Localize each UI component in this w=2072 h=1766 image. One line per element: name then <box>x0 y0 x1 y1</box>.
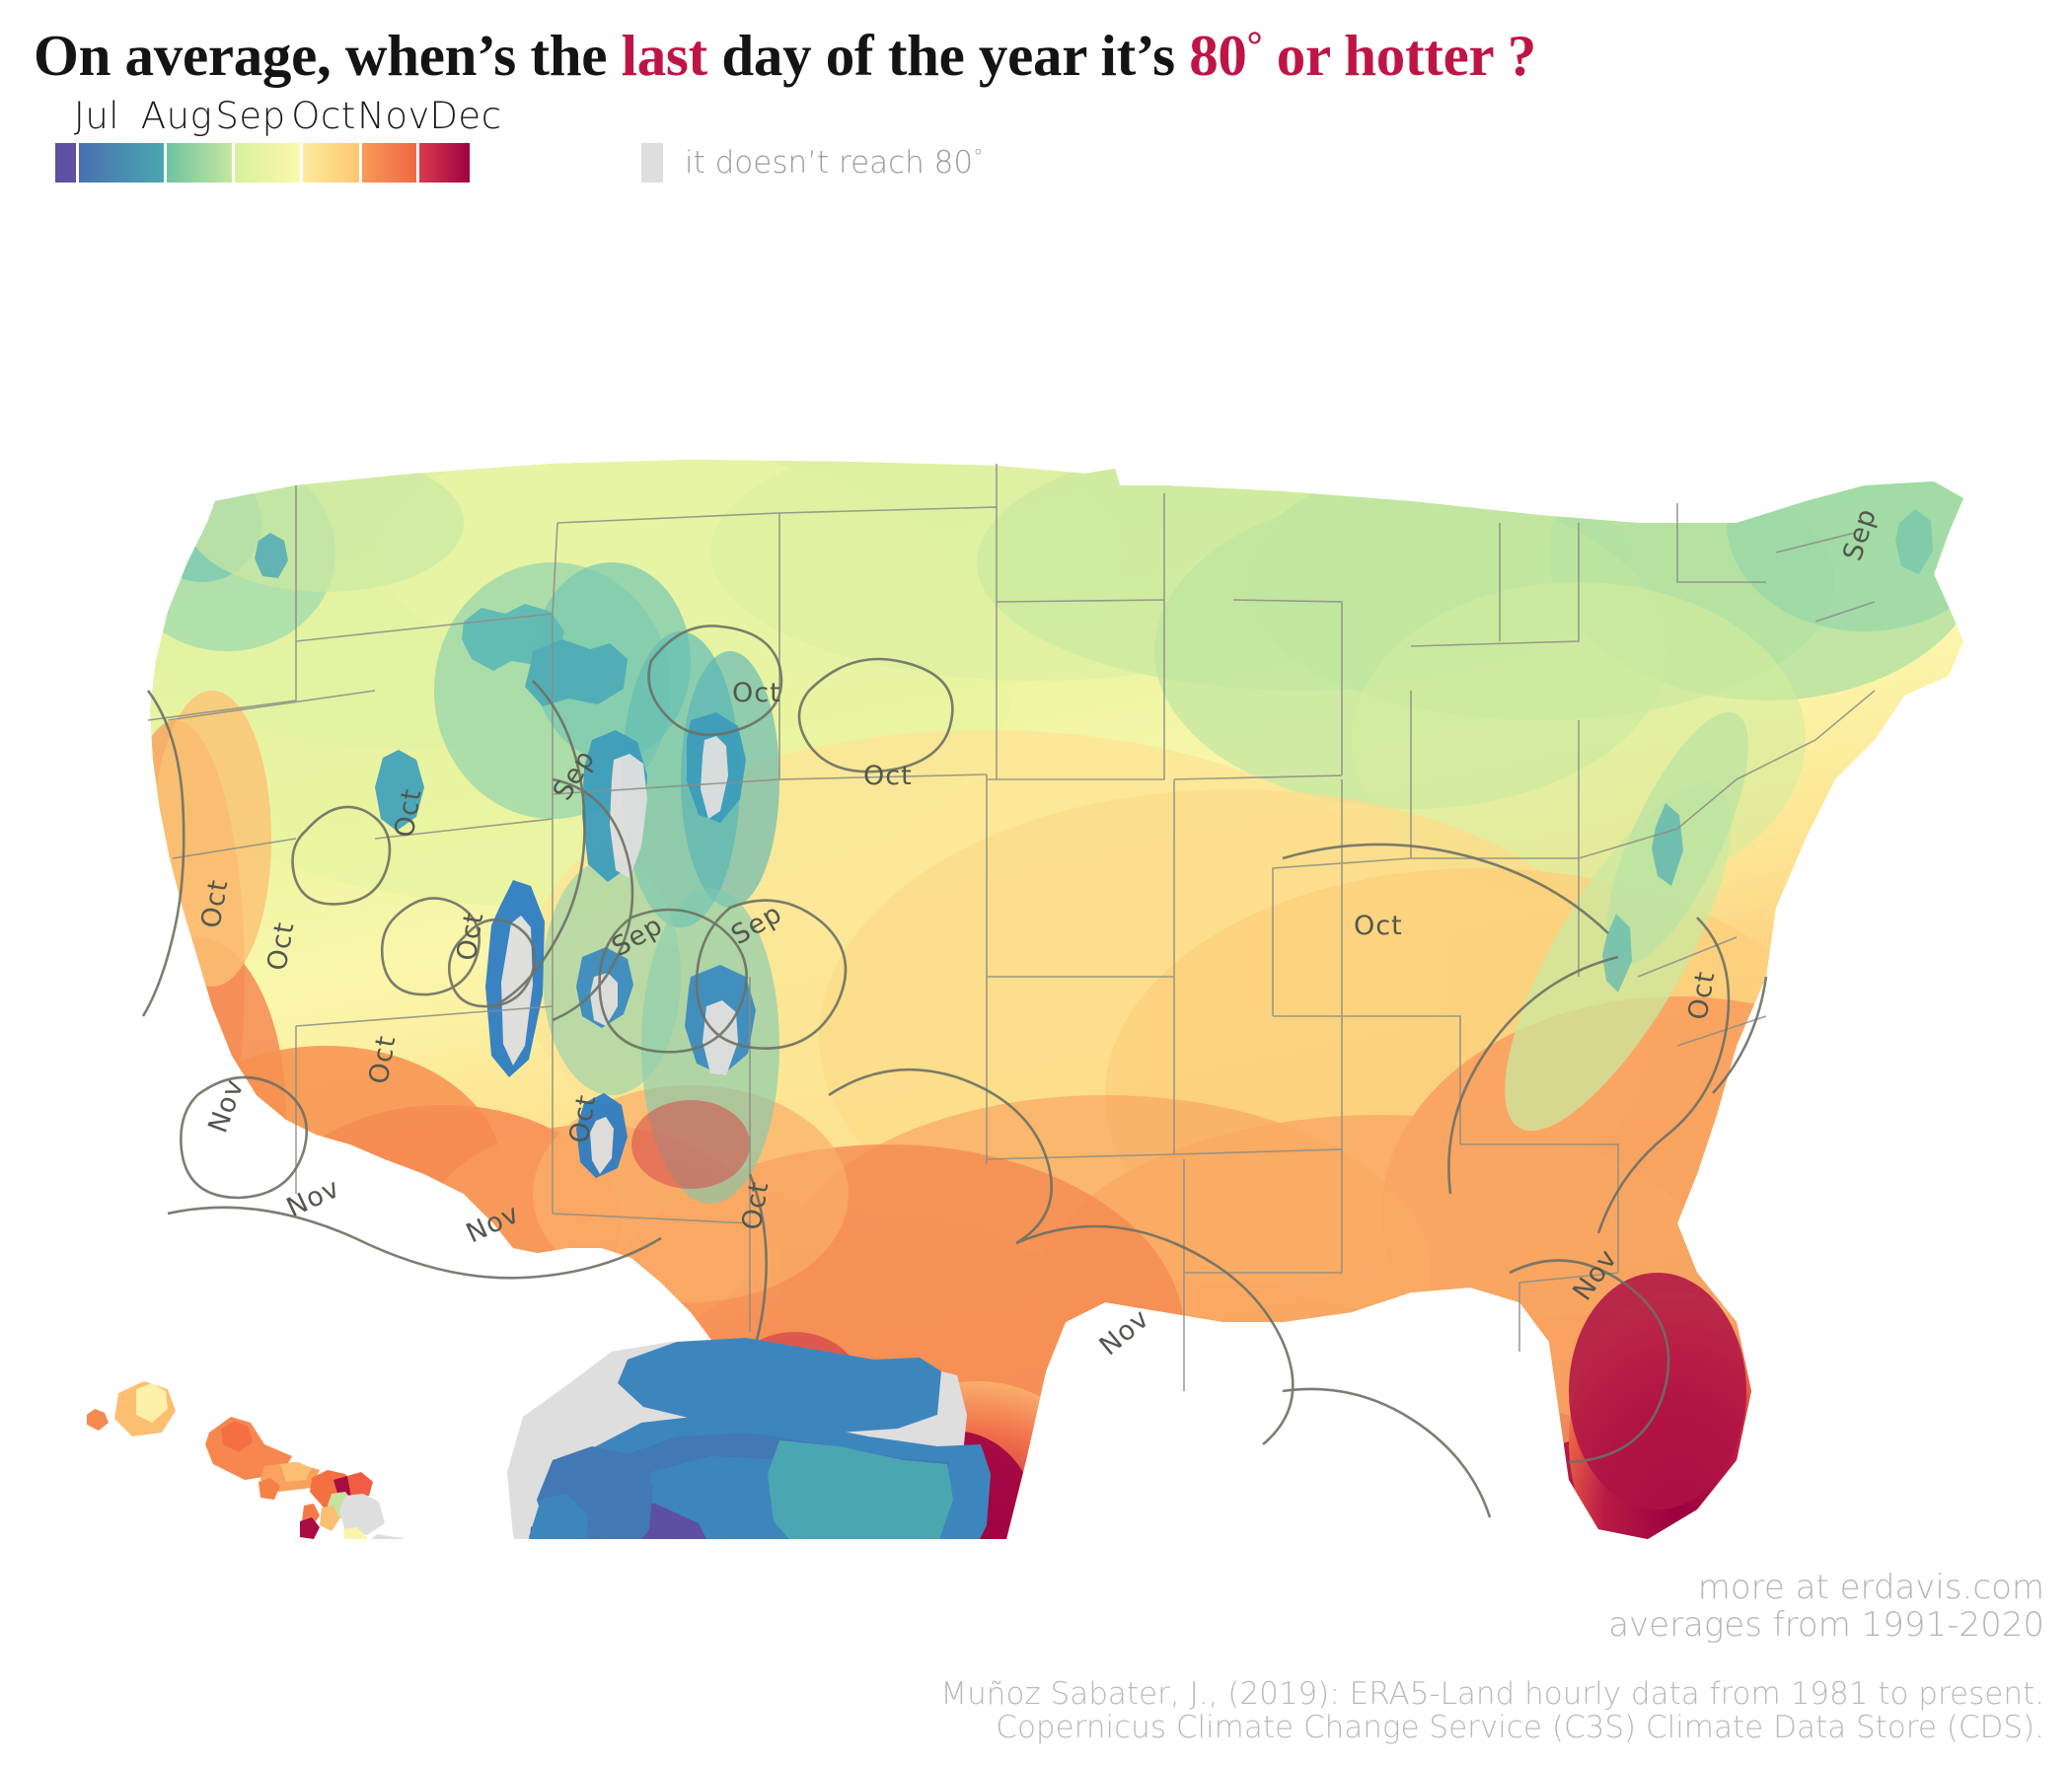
contour-label-oct-4: Oct <box>1354 911 1403 941</box>
title-part-1: On average, when’s the <box>34 23 622 88</box>
legend-segment-nov <box>362 143 415 183</box>
title-accent-last: last <box>622 23 707 88</box>
legend-month-labels: Jul Aug Sep Oct Nov Dec <box>55 95 687 139</box>
page-title: On average, when’s the last day of the y… <box>34 22 2036 90</box>
legend-segment-jun <box>55 143 76 183</box>
title-accent-temperature: 80 <box>1189 23 1246 88</box>
data-citation: Muñoz Sabater, J., (2019): ERA5-Land hou… <box>564 1677 2044 1744</box>
footer-credits: more at erdavis.com averages from 1991-2… <box>663 1569 2044 1644</box>
citation-line-1: Muñoz Sabater, J., (2019): ERA5-Land hou… <box>564 1677 2044 1711</box>
footer-site: more at erdavis.com <box>663 1569 2044 1606</box>
legend-month-jul: Jul <box>67 95 126 137</box>
legend-segment-sep <box>235 143 300 183</box>
legend-month-dec: Dec <box>426 95 505 137</box>
degree-icon: ° <box>1247 23 1263 67</box>
degree-icon-small: ° <box>973 145 984 169</box>
citation-line-2: Copernicus Climate Change Service (C3S) … <box>564 1711 2044 1744</box>
hawaii-inset <box>87 1381 452 1539</box>
legend-segment-jul <box>79 143 163 183</box>
conus-temperature-field <box>89 405 2003 1539</box>
legend-segment-dec <box>419 143 470 183</box>
title-part-2: day of the year it’s <box>707 23 1189 88</box>
legend-colorbar <box>55 143 470 183</box>
legend-no-data-label: it doesn’t reach 80° <box>685 145 984 181</box>
legend-month-nov: Nov <box>351 95 436 137</box>
contour-label-nov-2: Nov <box>282 1173 345 1224</box>
legend-segment-oct <box>303 143 359 183</box>
contour-label-nov-4: Nov <box>1094 1303 1156 1362</box>
map-container: Oct Sep Oct Oct Oct Oct Oct Sep Sep Oct … <box>0 227 2072 1539</box>
title-accent-rest: or hotter ? <box>1262 23 1536 88</box>
legend: Jul Aug Sep Oct Nov Dec it doesn’t reach… <box>0 95 1085 203</box>
legend-month-sep: Sep <box>211 95 290 137</box>
legend-segment-aug <box>167 143 232 183</box>
contour-label-oct-1: Oct <box>732 678 781 708</box>
choropleth-map: Oct Sep Oct Oct Oct Oct Oct Sep Sep Oct … <box>0 227 2072 1539</box>
contour-label-nov-1: Nov <box>202 1074 250 1137</box>
legend-no-data-text: it doesn’t reach 80 <box>685 145 973 181</box>
legend-month-aug: Aug <box>134 95 219 137</box>
legend-no-data: it doesn’t reach 80° <box>641 143 984 183</box>
footer-averages: averages from 1991-2020 <box>663 1606 2044 1644</box>
contour-label-oct-2: Oct <box>863 761 913 791</box>
alaska-inset <box>454 1338 1251 1539</box>
legend-no-data-swatch <box>641 143 663 183</box>
